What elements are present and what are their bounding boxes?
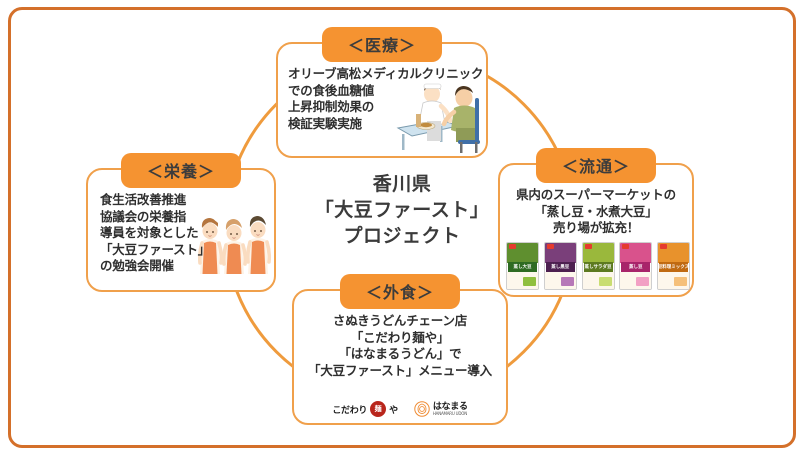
card-retail-tag: ＜流通＞: [536, 148, 656, 183]
card-nutrition-tag: ＜栄養＞: [121, 153, 241, 188]
card-dining-tag: ＜外食＞: [340, 274, 460, 309]
card-retail-line-3: 売り場が拡充！: [508, 220, 684, 237]
product-package: 蒸し大豆: [506, 242, 539, 290]
center-title-line-2: 「大豆ファースト」: [302, 197, 502, 223]
kodawari-menya-suffix: や: [389, 403, 398, 416]
card-nutrition-line-4: 「大豆ファースト」: [100, 242, 266, 259]
kodawari-menya-logo: こだわり 麺 や: [332, 401, 398, 417]
card-medical-line-2: での食後血糖値: [288, 83, 478, 100]
card-dining-line-1: さぬきうどんチェーン店: [302, 313, 498, 330]
card-medical-line-4: 検証実験実施: [288, 116, 478, 133]
kodawari-menya-prefix: こだわり: [332, 403, 367, 416]
center-project-title: 香川県 「大豆ファースト」 プロジェクト: [302, 171, 502, 250]
product-package: 豆料理ミックス: [657, 242, 690, 290]
product-package: 蒸し豆: [619, 242, 652, 290]
card-dining-line-3: 「はなまるうどん」で: [302, 346, 498, 363]
card-nutrition-line-5: の勉強会開催: [100, 258, 266, 275]
card-medical-line-1: オリーブ高松メディカルクリニック: [288, 66, 478, 83]
hanamaru-udon-subtitle: HANAMARU UDON: [433, 412, 468, 416]
center-title-line-1: 香川県: [302, 171, 502, 197]
card-retail-line-1: 県内のスーパーマーケットの: [508, 187, 684, 204]
card-dining[interactable]: ＜外食＞ さぬきうどんチェーン店 「こだわり麺や」 「はなまるうどん」で 「大豆…: [292, 289, 508, 425]
card-dining-line-4: 「大豆ファースト」メニュー導入: [302, 363, 498, 380]
restaurant-logos: こだわり 麺 や はなまる HANAMARU UDON: [294, 401, 506, 417]
card-retail-line-2: 「蒸し豆・水煮大豆」: [508, 204, 684, 221]
card-nutrition[interactable]: ＜栄養＞ 食生活改善推進 協議会の栄養指 導員を対象とした 「大豆ファースト」 …: [86, 168, 276, 292]
center-title-line-3: プロジェクト: [302, 223, 502, 249]
product-package: 蒸しサラダ豆: [582, 242, 615, 290]
card-nutrition-line-3: 導員を対象とした: [100, 225, 266, 242]
card-medical-tag: ＜医療＞: [322, 27, 442, 62]
card-retail[interactable]: ＜流通＞ 県内のスーパーマーケットの 「蒸し豆・水煮大豆」 売り場が拡充！ 蒸し…: [498, 163, 694, 297]
soybean-product-packages: 蒸し大豆 蒸し黒豆 蒸しサラダ豆 蒸し豆: [506, 238, 690, 290]
hanamaru-udon-logo: はなまる HANAMARU UDON: [414, 401, 468, 417]
product-package: 蒸し黒豆: [544, 242, 577, 290]
card-medical[interactable]: ＜医療＞ オリーブ高松メディカルクリニック での食後血糖値 上昇抑制効果の 検証…: [276, 42, 488, 158]
card-medical-line-3: 上昇抑制効果の: [288, 99, 478, 116]
card-nutrition-line-1: 食生活改善推進: [100, 192, 266, 209]
kodawari-menya-seal: 麺: [370, 401, 386, 417]
flower-icon: [414, 401, 430, 417]
infographic-canvas: 香川県 「大豆ファースト」 プロジェクト ＜医療＞ オリーブ高松メディカルクリニ…: [0, 0, 804, 457]
card-dining-line-2: 「こだわり麺や」: [302, 330, 498, 347]
card-nutrition-line-2: 協議会の栄養指: [100, 209, 266, 226]
